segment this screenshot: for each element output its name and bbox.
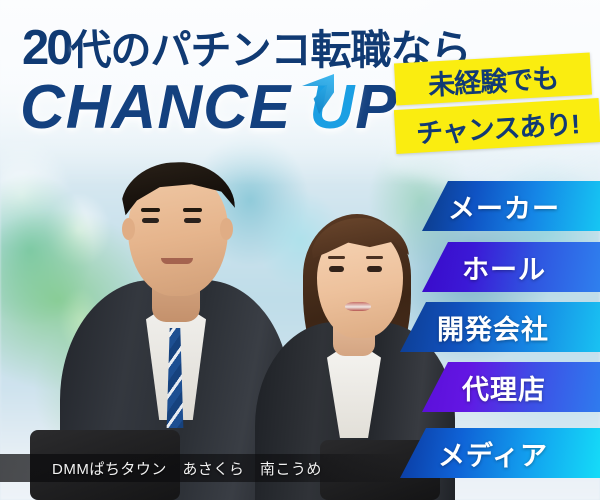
businessman-eyebrow-right [183, 208, 202, 212]
businesswoman-eye-right [367, 266, 382, 272]
headline-number: 20 [22, 21, 71, 75]
category-button-hall[interactable]: ホール [422, 242, 600, 292]
category-button-developer[interactable]: 開発会社 [400, 302, 600, 352]
businesswoman-eyebrow-left [328, 256, 345, 259]
businesswoman-eyebrow-right [366, 256, 383, 259]
businesswoman-eye-left [329, 266, 344, 272]
badge-group: 未経験でも チャンスあり! [395, 58, 600, 158]
businessman-eye-right [184, 218, 201, 223]
businessman-eyebrow-left [141, 208, 160, 212]
businessman-eye-left [142, 218, 159, 223]
businessman-ear-right [220, 218, 233, 240]
badge-no-experience: 未経験でも [394, 53, 592, 106]
category-button-agency[interactable]: 代理店 [422, 362, 600, 412]
logo-letter-p: P [355, 73, 397, 142]
category-button-maker[interactable]: メーカー [422, 181, 600, 231]
credit-text: DMMぱちタウン あさくら 南こうめ [52, 458, 322, 479]
category-button-media[interactable]: メディア [400, 428, 600, 478]
logo-word-chance: CHANCE [20, 73, 291, 142]
businessman-ear-left [122, 218, 135, 240]
credit-band: DMMぱちタウン あさくら 南こうめ [0, 454, 404, 482]
businessman-mouth [161, 258, 193, 264]
promo-banner[interactable]: 20代のパチンコ転職なら CHANCE UP 未経験でも チャンスあり! メーカ… [0, 0, 600, 500]
businesswoman-mouth [345, 302, 371, 311]
badge-chance-available: チャンスあり! [394, 98, 600, 154]
logo-chance-up: CHANCE UP [20, 72, 398, 143]
